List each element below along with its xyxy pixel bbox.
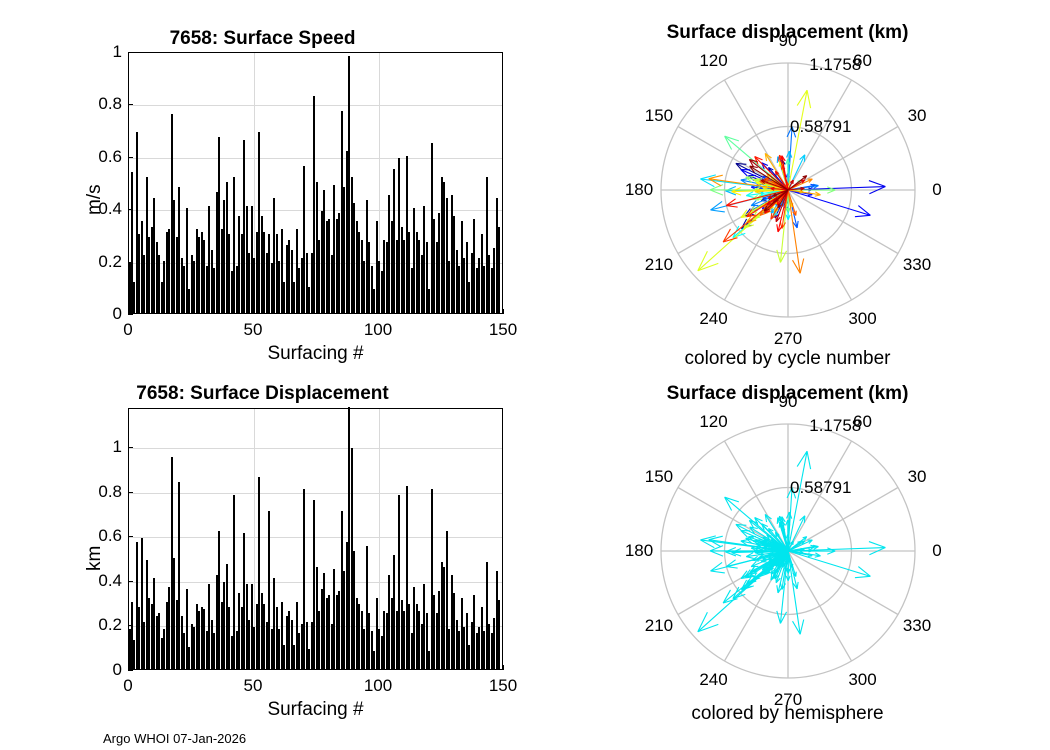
polar-hemi-plot: 03060901201501802102402703003300.587911.… (653, 416, 923, 686)
disp-ylabel: km (84, 546, 106, 571)
bar (498, 600, 500, 669)
polar-theta-label: 120 (699, 51, 727, 71)
panel-polar-hemisphere: Surface displacement (km) 03060901201501… (525, 375, 1050, 750)
polar-canvas (653, 416, 923, 686)
y-tick-mark (128, 104, 133, 105)
polar-theta-label: 90 (779, 31, 798, 51)
gridline-horizontal (129, 448, 502, 449)
speed-ylabel: m/s (84, 184, 106, 215)
figure-root: 7658: Surface Speed 05010015000.20.40.60… (0, 0, 1050, 750)
polar-r-label: 1.1758 (809, 55, 861, 75)
y-tick-mark (128, 536, 133, 537)
speed-xlabel: Surfacing # (128, 343, 503, 365)
y-tick-mark (128, 625, 133, 626)
polar-cycle-plot: 03060901201501802102402703003300.587911.… (653, 55, 923, 325)
x-tick-label: 0 (123, 676, 132, 696)
y-tick-mark (128, 157, 133, 158)
x-tick-label: 50 (244, 320, 263, 340)
polar-theta-label: 240 (699, 670, 727, 690)
polar-theta-label: 180 (625, 541, 653, 561)
y-tick-label: 0 (82, 660, 122, 680)
polar-grid-spoke (788, 190, 898, 254)
x-tick-label: 150 (489, 676, 517, 696)
polar-theta-label: 240 (699, 309, 727, 329)
disp-title: 7658: Surface Displacement (0, 383, 525, 405)
x-tick-mark (503, 665, 504, 670)
y-tick-mark (128, 262, 133, 263)
polar-theta-label: 300 (848, 670, 876, 690)
polar-theta-label: 300 (848, 309, 876, 329)
polar-theta-label: 180 (625, 180, 653, 200)
y-tick-label: 0.2 (82, 252, 122, 272)
y-tick-label: 0.8 (82, 94, 122, 114)
y-tick-label: 0.6 (82, 526, 122, 546)
y-tick-mark (128, 670, 133, 671)
x-tick-label: 0 (123, 320, 132, 340)
bar (129, 629, 131, 669)
panel-surface-speed: 7658: Surface Speed 05010015000.20.40.60… (0, 0, 525, 375)
x-tick-mark (378, 309, 379, 314)
speed-title: 7658: Surface Speed (0, 28, 525, 50)
polar-hemi-caption: colored by hemisphere (525, 703, 1050, 725)
gridline-horizontal (129, 105, 502, 106)
y-tick-label: 1 (82, 42, 122, 62)
polar-theta-label: 0 (932, 180, 941, 200)
polar-theta-label: 210 (645, 616, 673, 636)
y-tick-mark (128, 492, 133, 493)
polar-theta-label: 90 (779, 392, 798, 412)
x-tick-label: 100 (364, 320, 392, 340)
polar-theta-label: 30 (908, 467, 927, 487)
polar-canvas (653, 55, 923, 325)
polar-grid-spoke (788, 551, 898, 615)
polar-theta-label: 120 (699, 412, 727, 432)
panel-surface-displacement: 7658: Surface Displacement 05010015000.2… (0, 375, 525, 750)
polar-theta-label: 150 (645, 106, 673, 126)
polar-cycle-caption: colored by cycle number (525, 348, 1050, 370)
bar (129, 263, 131, 313)
x-tick-mark (253, 665, 254, 670)
y-tick-label: 0 (82, 304, 122, 324)
polar-theta-label: 30 (908, 106, 927, 126)
y-tick-mark (128, 581, 133, 582)
bar (498, 227, 500, 313)
gridline-horizontal (129, 158, 502, 159)
disp-axes (128, 408, 503, 670)
x-tick-label: 100 (364, 676, 392, 696)
gridline-horizontal (129, 493, 502, 494)
y-tick-label: 0.8 (82, 482, 122, 502)
polar-theta-label: 0 (932, 541, 941, 561)
y-tick-mark (128, 209, 133, 210)
polar-r-label: 1.1758 (809, 416, 861, 436)
x-tick-mark (253, 309, 254, 314)
y-tick-label: 0.6 (82, 147, 122, 167)
x-tick-mark (503, 309, 504, 314)
x-tick-label: 150 (489, 320, 517, 340)
x-tick-mark (378, 665, 379, 670)
polar-r-label: 0.58791 (790, 478, 851, 498)
polar-theta-label: 330 (903, 255, 931, 275)
polar-theta-label: 270 (774, 329, 802, 349)
y-tick-label: 0.2 (82, 615, 122, 635)
disp-xlabel: Surfacing # (128, 699, 503, 721)
polar-theta-label: 150 (645, 467, 673, 487)
figure-stamp: Argo WHOI 07-Jan-2026 (103, 731, 246, 746)
polar-theta-label: 330 (903, 616, 931, 636)
polar-theta-label: 210 (645, 255, 673, 275)
x-tick-label: 50 (244, 676, 263, 696)
y-tick-mark (128, 447, 133, 448)
panel-polar-cycle: Surface displacement (km) 03060901201501… (525, 0, 1050, 375)
y-tick-label: 0.4 (82, 571, 122, 591)
y-tick-mark (128, 52, 133, 53)
y-tick-label: 1 (82, 437, 122, 457)
polar-r-label: 0.58791 (790, 117, 851, 137)
speed-axes (128, 52, 503, 314)
y-tick-mark (128, 314, 133, 315)
